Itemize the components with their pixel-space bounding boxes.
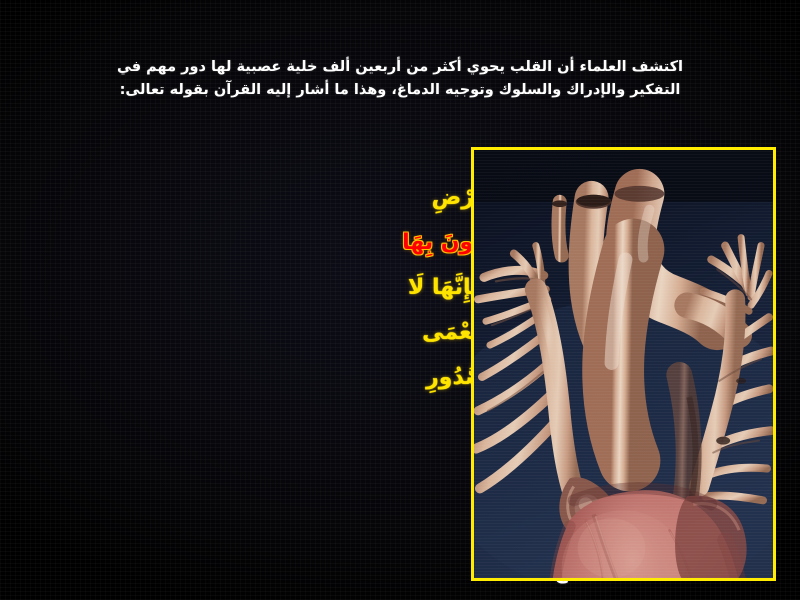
header-line-1: اكتشف العلماء أن القلب يحوي أكثر من أربع… [48, 56, 752, 79]
heart-anatomy-illustration [474, 150, 773, 578]
heart-image [474, 150, 773, 578]
header-paragraph: اكتشف العلماء أن القلب يحوي أكثر من أربع… [48, 56, 752, 103]
header-line-2: التفكير والإدراك والسلوك وتوجيه الدماغ، … [48, 79, 752, 102]
heart-image-frame [471, 147, 776, 581]
slide-canvas: اكتشف العلماء أن القلب يحوي أكثر من أربع… [0, 0, 800, 600]
